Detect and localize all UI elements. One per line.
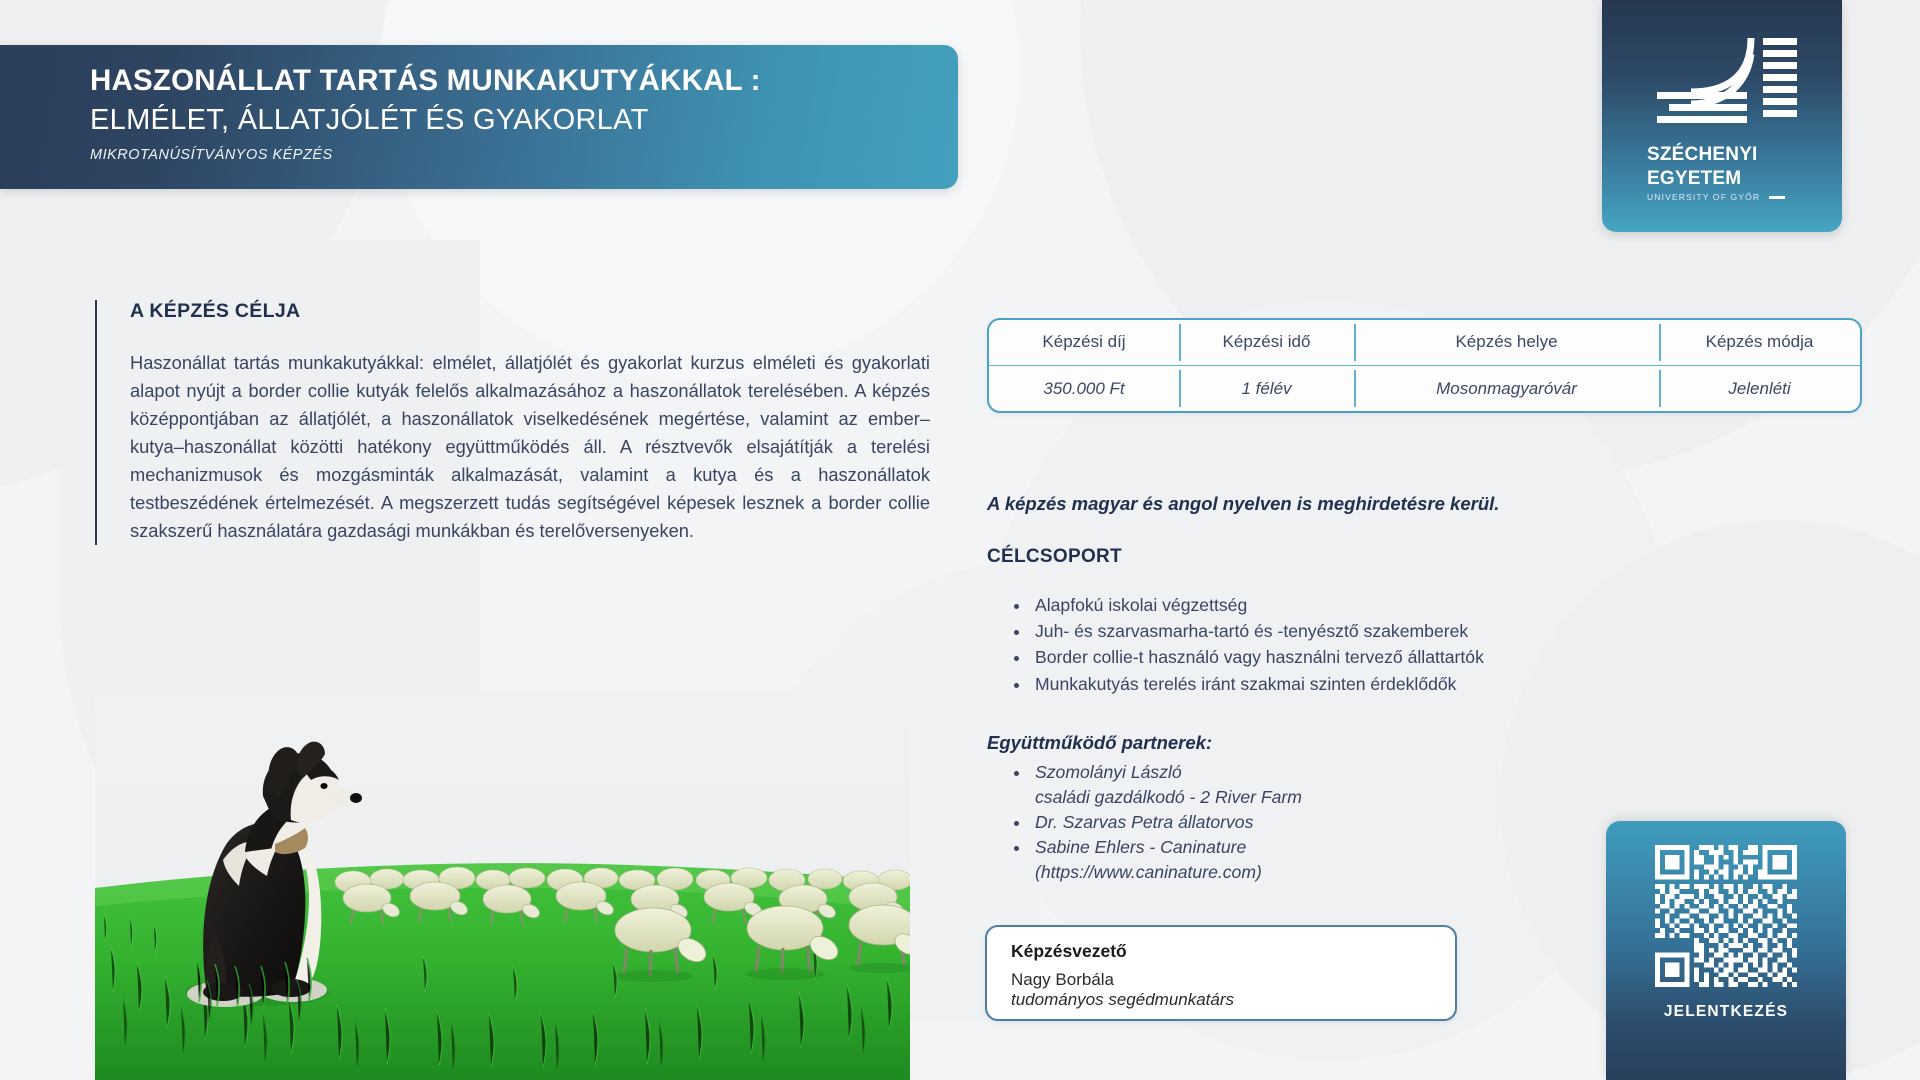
table-header-duration: Képzési idő [1179,320,1354,365]
partner-detail: családi gazdálkodó - 2 River Farm [1035,785,1773,810]
hero-photo-border-collie-sheep [95,692,910,1080]
list-item: Munkakutyás terelés iránt szakmai szinte… [1031,671,1813,697]
header-banner: HASZONÁLLAT TARTÁS MUNKAKUTYÁKKAL : ELMÉ… [0,45,958,189]
table-value-duration: 1 félév [1179,366,1354,411]
page-title-primary: HASZONÁLLAT TARTÁS MUNKAKUTYÁKKAL : [90,61,958,100]
logo-wordmark-line2: EGYETEM [1647,169,1741,190]
table-header-mode: Képzés módja [1659,320,1860,365]
partner-name: Dr. Szarvas Petra állatorvos [1035,812,1253,832]
table-value-location: Mosonmagyaróvár [1354,366,1659,411]
logo-tagline: UNIVERSITY OF GYŐR [1647,192,1760,202]
course-info-table: Képzési díj Képzési idő Képzés helye Kép… [987,318,1862,413]
course-leader-box: Képzésvezető Nagy Borbála tudományos seg… [985,925,1457,1021]
course-goal-body: Haszonállat tartás munkakutyákkal: elmél… [130,349,930,545]
list-item: Border collie-t használó vagy használni … [1031,644,1813,670]
list-item: Alapfokú iskolai végzettség [1031,592,1813,618]
partners-heading: Együttműködő partnerek: [987,732,1212,754]
szechenyi-logo-icon [1647,30,1797,142]
university-logo-card: SZÉCHENYI EGYETEM UNIVERSITY OF GYŐR [1602,0,1842,232]
list-item: Juh- és szarvasmarha-tartó és -tenyésztő… [1031,618,1813,644]
table-value-row: 350.000 Ft 1 félév Mosonmagyaróvár Jelen… [989,366,1860,411]
table-header-row: Képzési díj Képzési idő Képzés helye Kép… [989,320,1860,366]
list-item: Szomolányi László családi gazdálkodó - 2… [1031,760,1773,810]
course-goal-section: A KÉPZÉS CÉLJA Haszonállat tartás munkak… [95,300,930,545]
course-leader-name: Nagy Borbála [1011,970,1455,990]
course-leader-title: Képzésvezető [1011,941,1455,962]
language-note: A képzés magyar és angol nyelven is megh… [987,493,1499,515]
table-value-fee: 350.000 Ft [989,366,1179,411]
apply-qr-card[interactable]: JELENTKEZÉS [1606,821,1846,1080]
page-title-secondary: ELMÉLET, ÁLLATJÓLÉT ÉS GYAKORLAT [90,100,958,141]
partner-name: Szomolányi László [1035,762,1182,782]
table-header-fee: Képzési díj [989,320,1179,365]
table-header-location: Képzés helye [1354,320,1659,365]
qr-code-icon[interactable] [1655,845,1797,987]
apply-label: JELENTKEZÉS [1664,1003,1788,1021]
partner-name: Sabine Ehlers - Caninature [1035,837,1246,857]
course-leader-role: tudományos segédmunkatárs [1011,990,1455,1010]
course-goal-heading: A KÉPZÉS CÉLJA [130,300,930,323]
page-subtitle: MIKROTANÚSÍTVÁNYOS KÉPZÉS [90,147,958,163]
target-group-list: Alapfokú iskolai végzettség Juh- és szar… [1013,592,1813,697]
logo-wordmark-line1: SZÉCHENYI [1647,145,1758,166]
table-value-mode: Jelenléti [1659,366,1860,411]
target-group-heading: CÉLCSOPORT [987,546,1122,568]
logo-dash-icon [1769,196,1785,199]
